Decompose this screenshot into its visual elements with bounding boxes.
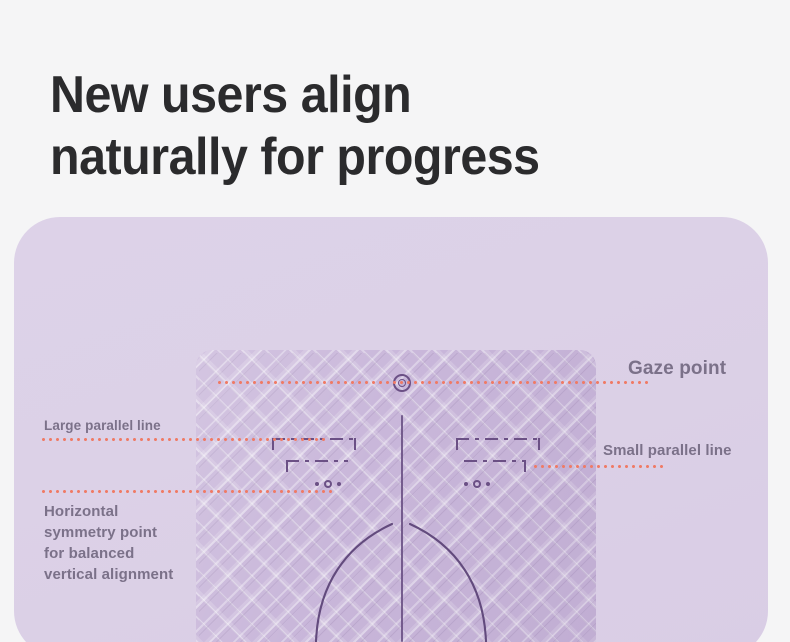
leader-line-large-parallel [40,438,326,441]
page-title: New users align naturally for progress [50,64,701,188]
product-feature-graphic: New users align naturally for progress [0,0,790,642]
leader-line-gaze-point [216,381,648,384]
label-small-parallel-line: Small parallel line [603,440,732,461]
label-large-parallel-line: Large parallel line [44,417,161,434]
yoga-mat [196,350,596,642]
label-horizontal-symmetry-point: Horizontal symmetry point for balanced v… [44,501,173,585]
leader-line-horizontal-symmetry [40,490,336,493]
leader-line-small-parallel [532,465,666,468]
label-gaze-point: Gaze point [628,357,726,381]
symmetric-arch-curves-icon [196,350,596,642]
feature-card: Gaze point Large parallel line Small par… [14,217,768,642]
